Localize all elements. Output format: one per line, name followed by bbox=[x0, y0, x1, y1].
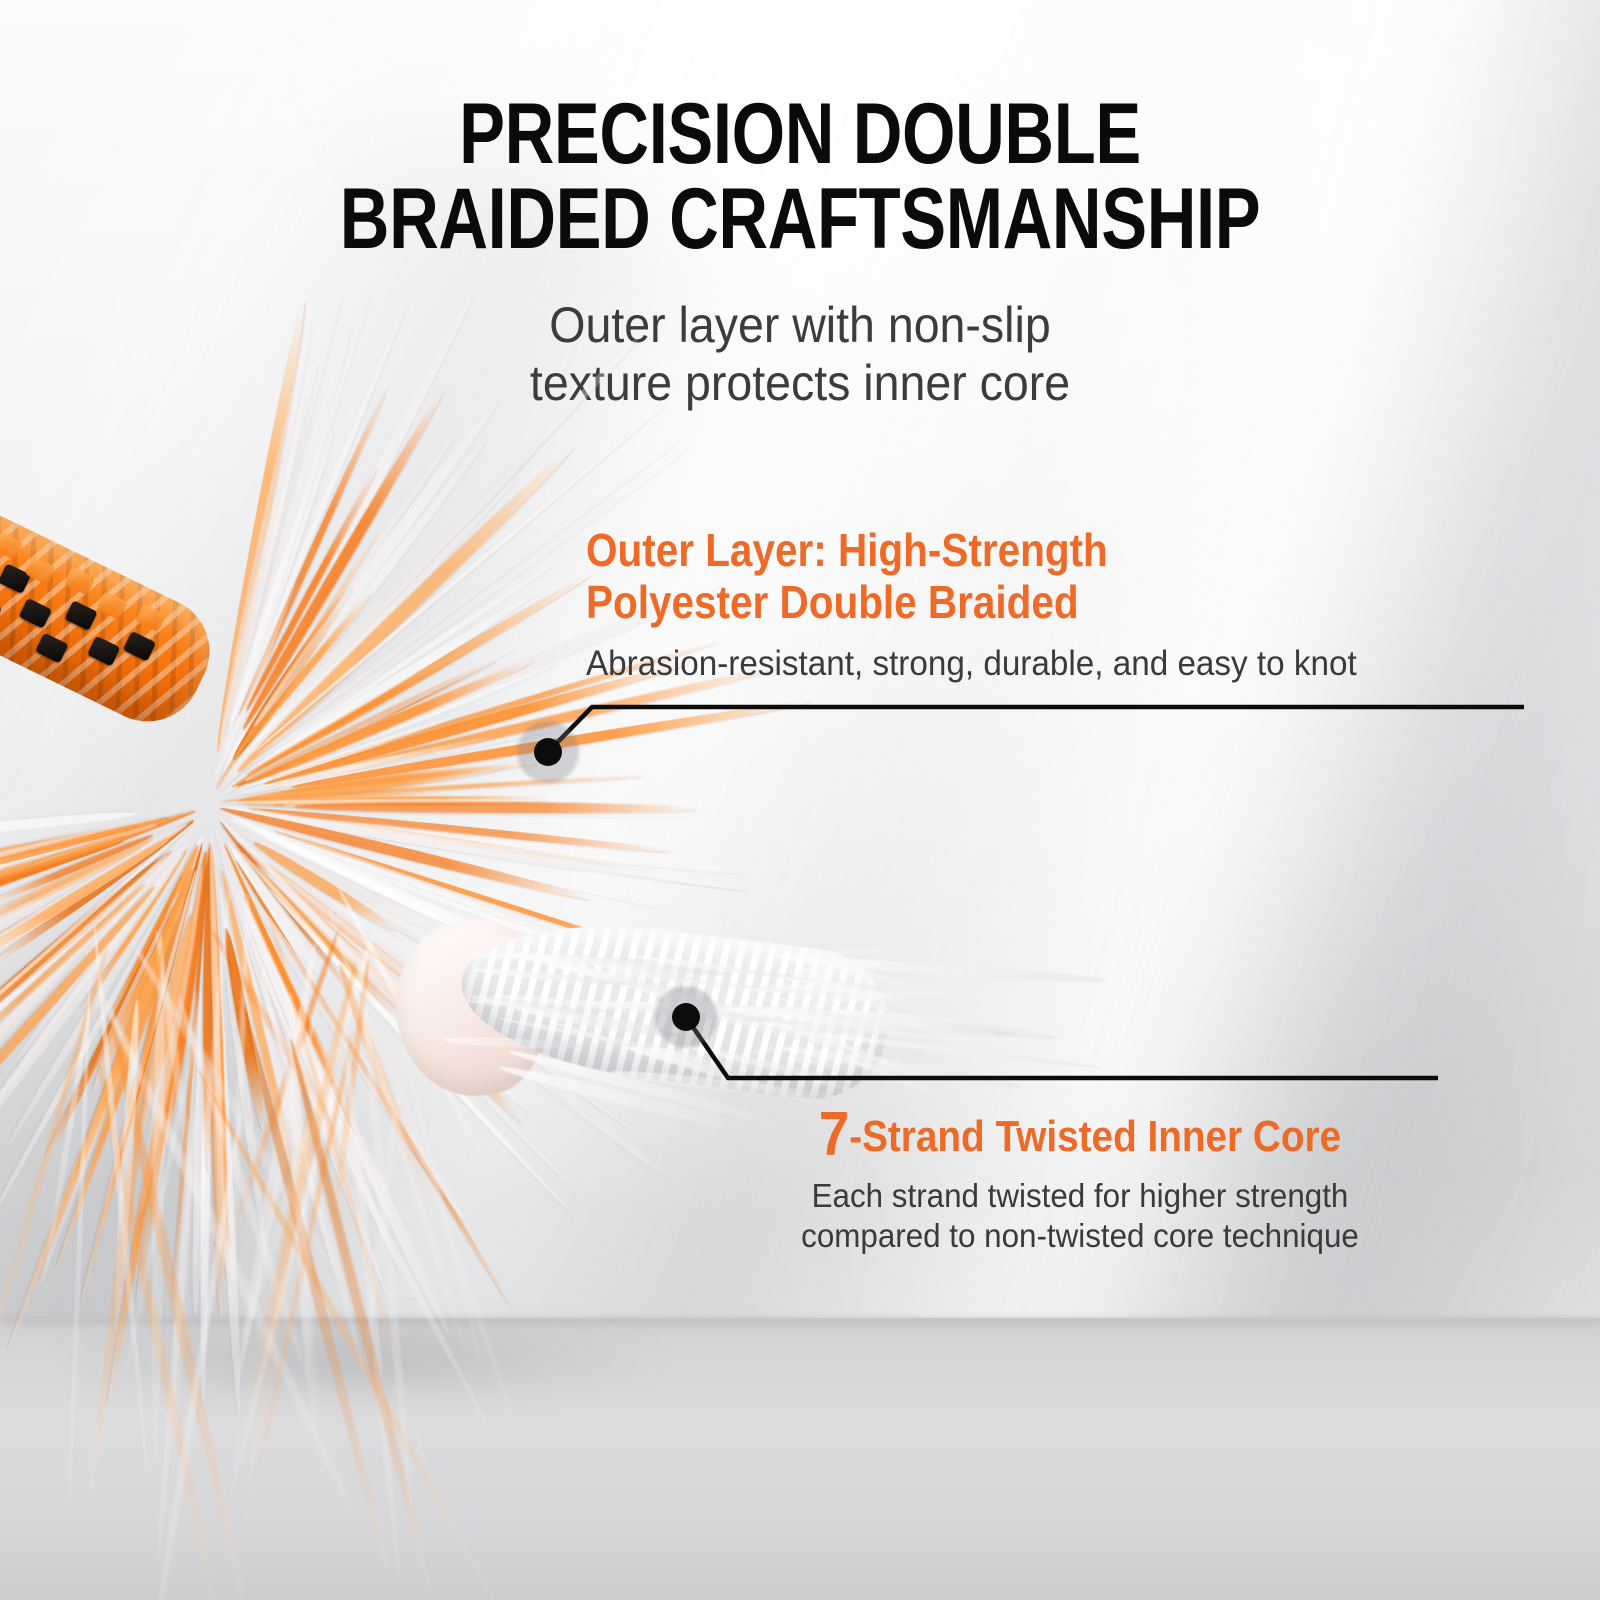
callout-inner-core-body: Each strand twisted for higher strength … bbox=[738, 1176, 1422, 1255]
page-headline: PRECISION DOUBLE BRAIDED CRAFTSMANSHIP bbox=[160, 92, 1440, 262]
callout-marker-outer-layer[interactable] bbox=[534, 738, 562, 766]
callout-outer-layer: Outer Layer: High-Strength Polyester Dou… bbox=[586, 524, 1526, 685]
callout-inner-core: 7-Strand Twisted Inner Core Each strand … bbox=[720, 1104, 1440, 1255]
callout-inner-core-title-rest: -Strand Twisted Inner Core bbox=[849, 1112, 1341, 1161]
callout-inner-core-title: 7-Strand Twisted Inner Core bbox=[763, 1104, 1397, 1166]
strand-count-number: 7 bbox=[819, 1100, 849, 1169]
callout-marker-inner-core[interactable] bbox=[672, 1003, 700, 1031]
callout-outer-layer-title: Outer Layer: High-Strength Polyester Dou… bbox=[586, 524, 1413, 629]
callout-outer-layer-body: Abrasion-resistant, strong, durable, and… bbox=[586, 643, 1479, 685]
infographic-stage: PRECISION DOUBLE BRAIDED CRAFTSMANSHIP O… bbox=[0, 0, 1600, 1600]
